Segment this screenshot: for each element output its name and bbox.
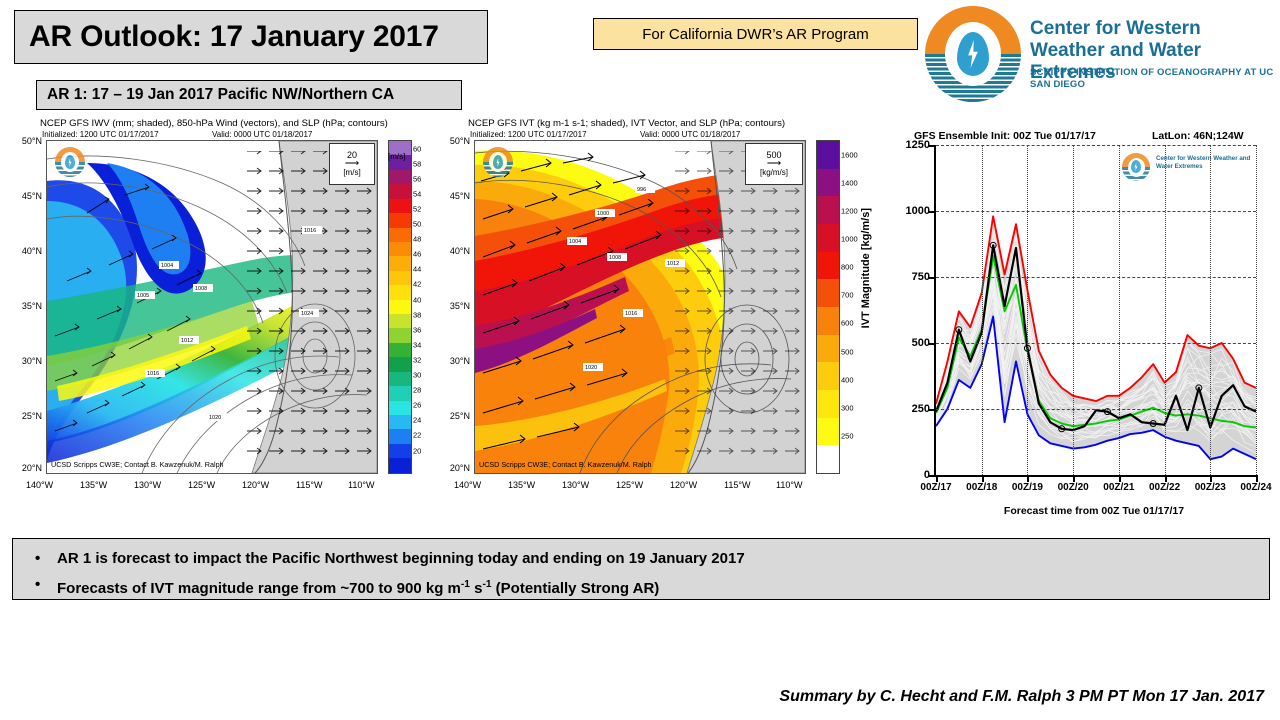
colorbar-swatch: [817, 418, 839, 446]
summary-footer: Summary by C. Hecht and F.M. Ralph 3 PM …: [0, 688, 1264, 706]
bullet-2-sup-1: -1: [461, 579, 470, 590]
iwv-xtick-130W: 130°W: [134, 480, 161, 490]
ivt-valid-label: Valid: 0000 UTC 01/18/2017: [640, 130, 740, 139]
colorbar-swatch: [817, 252, 839, 280]
iwv-ytick-50N: 50°N: [6, 136, 42, 146]
svg-text:996: 996: [637, 187, 646, 193]
chart-series-graphic: [936, 145, 1256, 475]
iwv-valid-label: Valid: 0000 UTC 01/18/2017: [212, 130, 312, 139]
chart-gridline-vertical: [1119, 145, 1120, 475]
colorbar-swatch: [389, 228, 411, 242]
colorbar-tick-label: 500: [841, 347, 854, 356]
bullet-2-text-a: Forecasts of IVT magnitude range from ~7…: [57, 580, 461, 597]
svg-text:1004: 1004: [569, 239, 581, 245]
colorbar-swatch: [817, 445, 839, 473]
chart-ytick-mark: [929, 409, 936, 411]
chart-xtick-label: 00Z/18: [966, 482, 997, 493]
colorbar-swatch: [389, 328, 411, 342]
ivt-colorbar: 1600140012001000800700600500400300250: [816, 140, 840, 474]
ivt-xtick-135W: 135°W: [508, 480, 535, 490]
colorbar-tick-label: 800: [841, 263, 854, 272]
colorbar-swatch: [817, 335, 839, 363]
ivt-ytick-30N: 30°N: [434, 356, 470, 366]
colorbar-swatch: [389, 300, 411, 314]
ivt-ytick-50N: 50°N: [434, 136, 470, 146]
ivt-ytick-45N: 45°N: [434, 191, 470, 201]
iwv-ytick-25N: 25°N: [6, 411, 42, 421]
ivt-xtick-140W: 140°W: [454, 480, 481, 490]
chart-title: GFS Ensemble Init: 00Z Tue 01/17/17: [914, 130, 1096, 142]
colorbar-swatch: [389, 271, 411, 285]
svg-text:1016: 1016: [304, 228, 316, 234]
iwv-ytick-45N: 45°N: [6, 191, 42, 201]
svg-text:1024: 1024: [301, 311, 313, 317]
chart-xtick-label: 00Z/21: [1103, 482, 1134, 493]
summary-bullets-box: AR 1 is forecast to impact the Pacific N…: [12, 538, 1270, 600]
ivt-xtick-120W: 120°W: [670, 480, 697, 490]
dwr-program-note-text: For California DWR’s AR Program: [642, 26, 868, 43]
chart-xtick-mark: [1210, 475, 1212, 482]
chart-ytick-label: 1250: [906, 139, 930, 151]
colorbar-tick-label: 1000: [841, 235, 858, 244]
colorbar-swatch: [389, 429, 411, 443]
colorbar-swatch: [389, 458, 411, 472]
ar-event-subtitle-text: AR 1: 17 – 19 Jan 2017 Pacific NW/Northe…: [37, 86, 394, 104]
svg-text:1000: 1000: [597, 211, 609, 217]
ivt-map-canvas: 1000 996 1004 1008 1012 1016 1020 UCSD S…: [474, 140, 806, 474]
chart-xtick-mark: [982, 475, 984, 482]
ivt-map-panel: NCEP GFS IVT (kg m-1 s-1; shaded), IVT V…: [420, 118, 880, 518]
chart-xtick-mark: [936, 475, 938, 482]
iwv-map-graphic: 1004 1008 1005 1012 1016 1020 1016 1024: [47, 141, 377, 473]
iwv-vector-key: 20 ⟶ [m/s]: [329, 143, 375, 185]
chart-gridline-vertical: [1256, 145, 1257, 475]
ivt-xtick-130W: 130°W: [562, 480, 589, 490]
dwr-program-note: For California DWR’s AR Program: [593, 18, 918, 50]
iwv-colorbar-units: [m/s]: [388, 152, 405, 161]
colorbar-swatch: [389, 444, 411, 458]
chart-xtick-mark: [1027, 475, 1029, 482]
colorbar-swatch: [389, 184, 411, 198]
chart-gridline-vertical: [1073, 145, 1074, 475]
ivt-initialized-label: Initialized: 1200 UTC 01/17/2017: [470, 130, 587, 139]
iwv-xtick-120W: 120°W: [242, 480, 269, 490]
chart-latlon-label: LatLon: 46N;124W: [1152, 130, 1244, 142]
colorbar-swatch: [389, 357, 411, 371]
iwv-ytick-30N: 30°N: [6, 356, 42, 366]
colorbar-tick-label: 300: [841, 403, 854, 412]
iwv-panel-title: NCEP GFS IWV (mm; shaded), 850-hPa Wind …: [40, 118, 388, 129]
ivt-colorbar-title: IVT Magnitude [kg/m/s]: [860, 208, 872, 328]
gfs-ensemble-timeseries-chart: GFS Ensemble Init: 00Z Tue 01/17/17 LatL…: [884, 130, 1276, 520]
chart-xaxis-label: Forecast time from 00Z Tue 01/17/17: [934, 505, 1254, 517]
ivt-ytick-35N: 35°N: [434, 301, 470, 311]
ivt-xtick-110W: 110°W: [776, 480, 802, 490]
colorbar-swatch: [817, 307, 839, 335]
chart-ytick-label: 250: [912, 403, 930, 415]
bullet-item-1: AR 1 is forecast to impact the Pacific N…: [57, 546, 1269, 572]
iwv-ytick-20N: 20°N: [6, 463, 42, 473]
svg-text:1008: 1008: [609, 255, 621, 261]
ivt-vector-key-arrow-icon: ⟶: [767, 160, 781, 168]
chart-ytick-label: 1000: [906, 205, 930, 217]
chart-plot-area: Center for Western Weather and Water Ext…: [934, 145, 1256, 477]
chart-xtick-label: 00Z/23: [1195, 482, 1226, 493]
ar-event-subtitle: AR 1: 17 – 19 Jan 2017 Pacific NW/Northe…: [36, 80, 462, 110]
ivt-ytick-40N: 40°N: [434, 246, 470, 256]
colorbar-tick-label: 1400: [841, 179, 858, 188]
colorbar-swatch: [389, 343, 411, 357]
iwv-map-panel: NCEP GFS IWV (mm; shaded), 850-hPa Wind …: [0, 118, 440, 518]
svg-text:1016: 1016: [147, 371, 159, 377]
iwv-colorbar: 6058565452504846444240383634323028262422…: [388, 140, 412, 474]
chart-ytick-mark: [929, 343, 936, 345]
chart-xtick-label: 00Z/22: [1149, 482, 1180, 493]
chart-gridline-horizontal: [936, 409, 1256, 410]
chart-ytick-mark: [929, 475, 936, 477]
page-title-text: AR Outlook: 17 January 2017: [15, 20, 439, 54]
colorbar-swatch: [389, 415, 411, 429]
ivt-vector-key-units: [kg/m/s]: [760, 168, 788, 178]
chart-gridline-horizontal: [936, 277, 1256, 278]
svg-text:1012: 1012: [181, 338, 193, 344]
colorbar-swatch: [817, 196, 839, 224]
colorbar-swatch: [389, 372, 411, 386]
cw3e-logo-icon: [925, 6, 1021, 102]
colorbar-tick-label: 400: [841, 375, 854, 384]
colorbar-swatch: [389, 314, 411, 328]
colorbar-swatch: [389, 199, 411, 213]
iwv-map-watermark-logo-icon: [55, 147, 85, 177]
chart-gridline-horizontal: [936, 145, 1256, 146]
chart-xtick-label: 00Z/24: [1240, 482, 1271, 493]
ivt-ytick-25N: 25°N: [434, 411, 470, 421]
bullet-2-text-c: (Potentially Strong AR): [492, 580, 660, 597]
colorbar-swatch: [817, 141, 839, 169]
bullet-2-sup-2: -1: [482, 579, 491, 590]
chart-xtick-label: 00Z/17: [920, 482, 951, 493]
colorbar-tick-label: 1200: [841, 207, 858, 216]
svg-text:1012: 1012: [667, 261, 679, 267]
colorbar-swatch: [817, 224, 839, 252]
colorbar-swatch: [817, 169, 839, 197]
iwv-vector-key-units: [m/s]: [343, 168, 360, 178]
iwv-map-credit: UCSD Scripps CW3E; Contact B. Kawzenuk/M…: [51, 460, 224, 469]
svg-text:1004: 1004: [161, 263, 173, 269]
iwv-xtick-110W: 110°W: [348, 480, 374, 490]
chart-gridline-vertical: [1165, 145, 1166, 475]
chart-ytick-mark: [929, 277, 936, 279]
chart-gridline-vertical: [1210, 145, 1211, 475]
svg-text:1016: 1016: [625, 311, 637, 317]
chart-xtick-label: 00Z/20: [1058, 482, 1089, 493]
chart-ytick-label: 500: [912, 337, 930, 349]
colorbar-swatch: [389, 213, 411, 227]
chart-gridline-horizontal: [936, 211, 1256, 212]
colorbar-tick-label: 700: [841, 291, 854, 300]
svg-text:1008: 1008: [195, 286, 207, 292]
chart-watermark-logo-icon: [1122, 153, 1150, 181]
ivt-panel-title: NCEP GFS IVT (kg m-1 s-1; shaded), IVT V…: [468, 118, 785, 129]
iwv-xtick-135W: 135°W: [80, 480, 107, 490]
chart-gridline-vertical: [1027, 145, 1028, 475]
iwv-xtick-115W: 115°W: [296, 480, 322, 490]
iwv-initialized-label: Initialized: 1200 UTC 01/17/2017: [42, 130, 159, 139]
ivt-map-graphic: 1000 996 1004 1008 1012 1016 1020: [475, 141, 805, 473]
chart-xtick-mark: [1073, 475, 1075, 482]
chart-watermark-text: Center for Western Weather and Water Ext…: [1156, 155, 1252, 170]
chart-ytick-mark: [929, 145, 936, 147]
chart-gridline-horizontal: [936, 343, 1256, 344]
colorbar-swatch: [389, 170, 411, 184]
colorbar-swatch: [389, 401, 411, 415]
iwv-vector-key-arrow-icon: ⟶: [345, 160, 359, 168]
ivt-map-watermark-logo-icon: [483, 147, 513, 177]
bullet-2-text-b: s: [470, 580, 483, 597]
colorbar-swatch: [389, 386, 411, 400]
ivt-xtick-125W: 125°W: [616, 480, 643, 490]
svg-text:1005: 1005: [137, 293, 149, 299]
iwv-ytick-35N: 35°N: [6, 301, 42, 311]
ivt-vector-key: 500 ⟶ [kg/m/s]: [745, 143, 803, 185]
colorbar-tick-label: 600: [841, 319, 854, 328]
page-title: AR Outlook: 17 January 2017: [14, 10, 488, 64]
colorbar-swatch: [389, 256, 411, 270]
bullet-item-2: Forecasts of IVT magnitude range from ~7…: [57, 572, 1269, 602]
colorbar-swatch: [817, 390, 839, 418]
logo-subtitle-text: SCRIPPS INSTITUTION OF OCEANOGRAPHY AT U…: [1030, 67, 1280, 91]
colorbar-swatch: [389, 242, 411, 256]
chart-xtick-mark: [1256, 475, 1258, 482]
colorbar-tick-label: 1600: [841, 151, 858, 160]
chart-ytick-mark: [929, 211, 936, 213]
chart-gridline-vertical: [982, 145, 983, 475]
chart-ytick-label: 750: [912, 271, 930, 283]
colorbar-swatch: [389, 285, 411, 299]
chart-xtick-mark: [1165, 475, 1167, 482]
chart-xtick-mark: [1119, 475, 1121, 482]
colorbar-swatch: [817, 362, 839, 390]
colorbar-swatch: [817, 279, 839, 307]
iwv-xtick-125W: 125°W: [188, 480, 215, 490]
iwv-xtick-140W: 140°W: [26, 480, 53, 490]
iwv-ytick-40N: 40°N: [6, 246, 42, 256]
chart-xtick-label: 00Z/19: [1012, 482, 1043, 493]
svg-text:1020: 1020: [585, 365, 597, 371]
colorbar-tick-label: 250: [841, 431, 854, 440]
iwv-map-canvas: 1004 1008 1005 1012 1016 1020 1016 1024 …: [46, 140, 378, 474]
ivt-xtick-115W: 115°W: [724, 480, 750, 490]
ivt-map-credit: UCSD Scripps CW3E; Contact B. Kawzenuk/M…: [479, 460, 652, 469]
svg-text:1020: 1020: [209, 415, 221, 421]
bullet-1-text: AR 1 is forecast to impact the Pacific N…: [57, 550, 745, 567]
ivt-ytick-20N: 20°N: [434, 463, 470, 473]
